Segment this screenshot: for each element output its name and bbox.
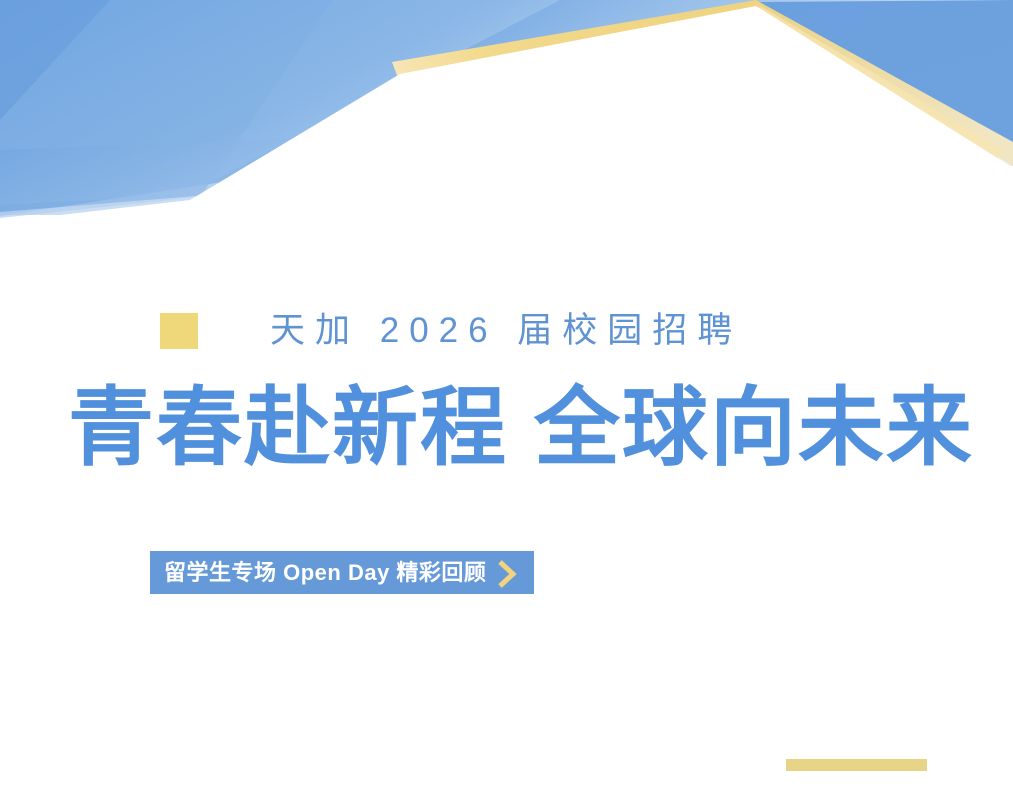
- open-day-recap-label: 留学生专场 Open Day 精彩回顾: [164, 561, 486, 585]
- yellow-band-right: [742, 0, 1013, 166]
- yellow-band-left: [392, 0, 770, 78]
- white-torn-edge: [0, 128, 560, 228]
- chevron-right-icon: [496, 559, 518, 589]
- blue-panel-base: [0, 0, 1013, 216]
- bottom-accent-bar: [786, 759, 927, 771]
- yellow-band-right-soft: [748, 6, 1005, 166]
- blue-wedge-mid: [0, 0, 560, 205]
- yellow-square-icon: [160, 313, 198, 349]
- open-day-recap-button[interactable]: 留学生专场 Open Day 精彩回顾: [150, 551, 534, 594]
- subtitle-text: 天加 2026 届校园招聘: [270, 312, 742, 350]
- recruitment-poster: 天加 2026 届校园招聘 青春赴新程 全球向未来 留学生专场 Open Day…: [0, 0, 1013, 796]
- blue-triangle-right: [756, 0, 1013, 166]
- blue-wedge-left: [0, 0, 333, 215]
- subtitle-row: 天加 2026 届校园招聘: [160, 305, 742, 357]
- blue-step-strip: [0, 128, 560, 218]
- page-title: 青春赴新程 全球向未来: [68, 376, 974, 480]
